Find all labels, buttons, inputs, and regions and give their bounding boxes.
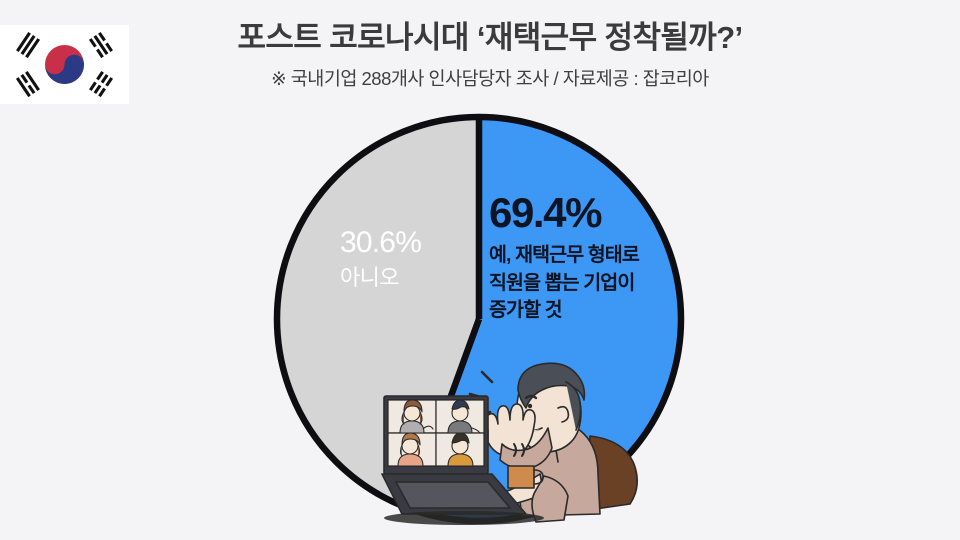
- pie-label-no: 30.6% 아니오: [340, 228, 490, 291]
- pie-desc-yes-line3: 증가할 것: [489, 297, 689, 325]
- pie-desc-yes-line2: 직원을 뽑는 기업이: [489, 270, 689, 298]
- pie-desc-yes-line1: 예, 재택근무 형태로: [489, 242, 689, 270]
- pie-desc-no: 아니오: [340, 265, 490, 291]
- flag-graphic: [0, 25, 129, 104]
- header: 포스트 코로나시대 ‘재택근무 정착될까?’ ※ 국내기업 288개사 인사담당…: [150, 18, 830, 91]
- pie-value-no: 30.6%: [340, 228, 490, 258]
- page-subtitle: ※ 국내기업 288개사 인사담당자 조사 / 자료제공 : 잡코리아: [150, 65, 830, 91]
- page-title: 포스트 코로나시대 ‘재택근무 정착될까?’: [150, 18, 830, 58]
- pie-desc-yes: 예, 재택근무 형태로 직원을 뽑는 기업이 증가할 것: [489, 242, 689, 325]
- video-conference-graphic: [368, 356, 678, 532]
- pie-value-yes: 69.4%: [489, 192, 689, 234]
- south-korea-flag: [0, 25, 129, 104]
- pie-label-yes: 69.4% 예, 재택근무 형태로 직원을 뽑는 기업이 증가할 것: [489, 192, 689, 325]
- video-conference-illustration: [368, 356, 678, 532]
